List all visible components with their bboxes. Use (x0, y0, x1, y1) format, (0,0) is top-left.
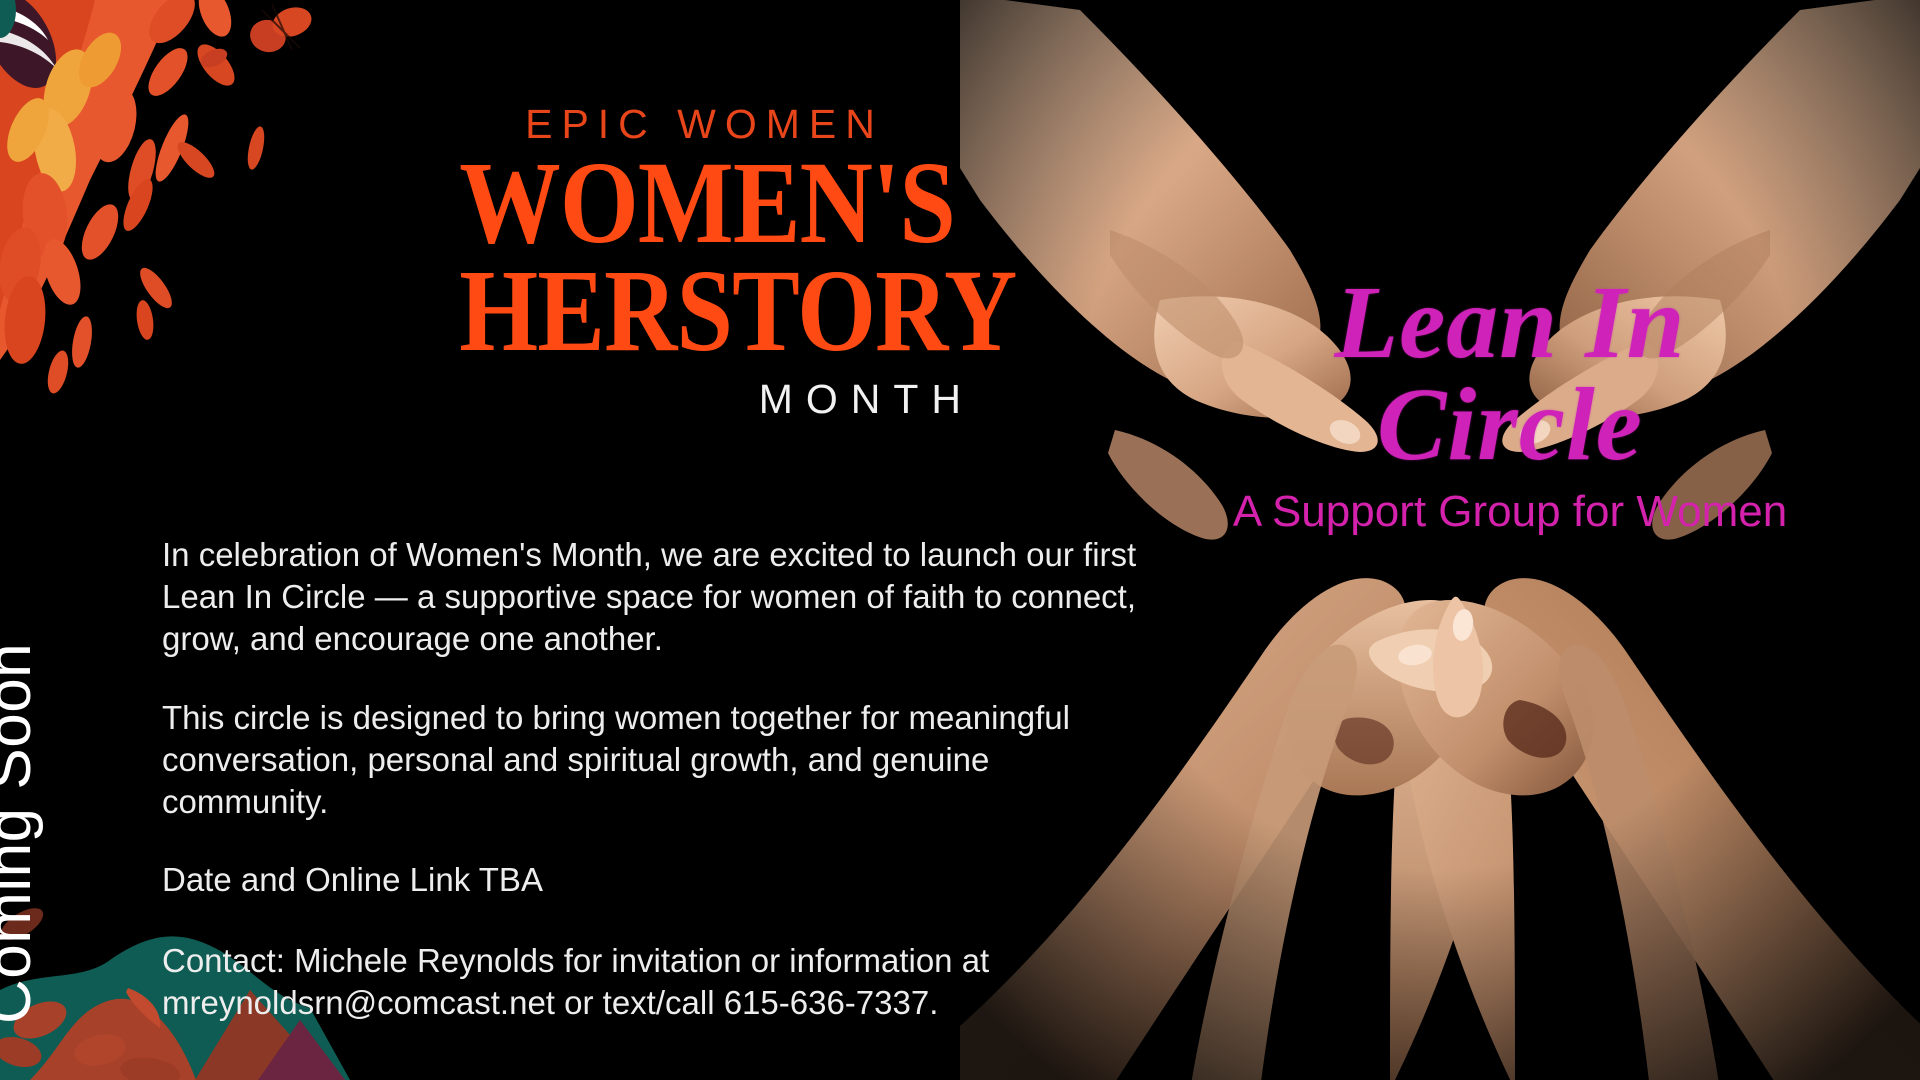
body-paragraph-intro: In celebration of Women's Month, we are … (162, 534, 1162, 661)
body-paragraph-date: Date and Online Link TBA (162, 859, 1162, 901)
lockup-title-line-1: Lean In (1190, 272, 1830, 374)
headline-block: EPIC WOMEN WOMEN'S HERSTORY MONTH (420, 104, 980, 420)
headline-line-2: HERSTORY (459, 259, 941, 363)
body-paragraph-contact: Contact: Michele Reynolds for invitation… (162, 940, 1162, 1024)
headline-subword-month: MONTH (420, 379, 980, 420)
poster-canvas: EPIC WOMEN WOMEN'S HERSTORY MONTH Coming… (0, 0, 1920, 1080)
body-copy-block: In celebration of Women's Month, we are … (162, 534, 1162, 1024)
lean-in-circle-lockup: Lean In Circle A Support Group for Women (1190, 272, 1830, 534)
lockup-title-line-2: Circle (1190, 374, 1830, 476)
body-paragraph-purpose: This circle is designed to bring women t… (162, 697, 1162, 824)
lockup-subtitle: A Support Group for Women (1190, 490, 1830, 534)
headline-line-1: WOMEN'S (459, 151, 941, 255)
orange-leaf-scatter-decoration (0, 0, 360, 400)
coming-soon-vertical-label: Coming Soon (0, 643, 45, 1024)
